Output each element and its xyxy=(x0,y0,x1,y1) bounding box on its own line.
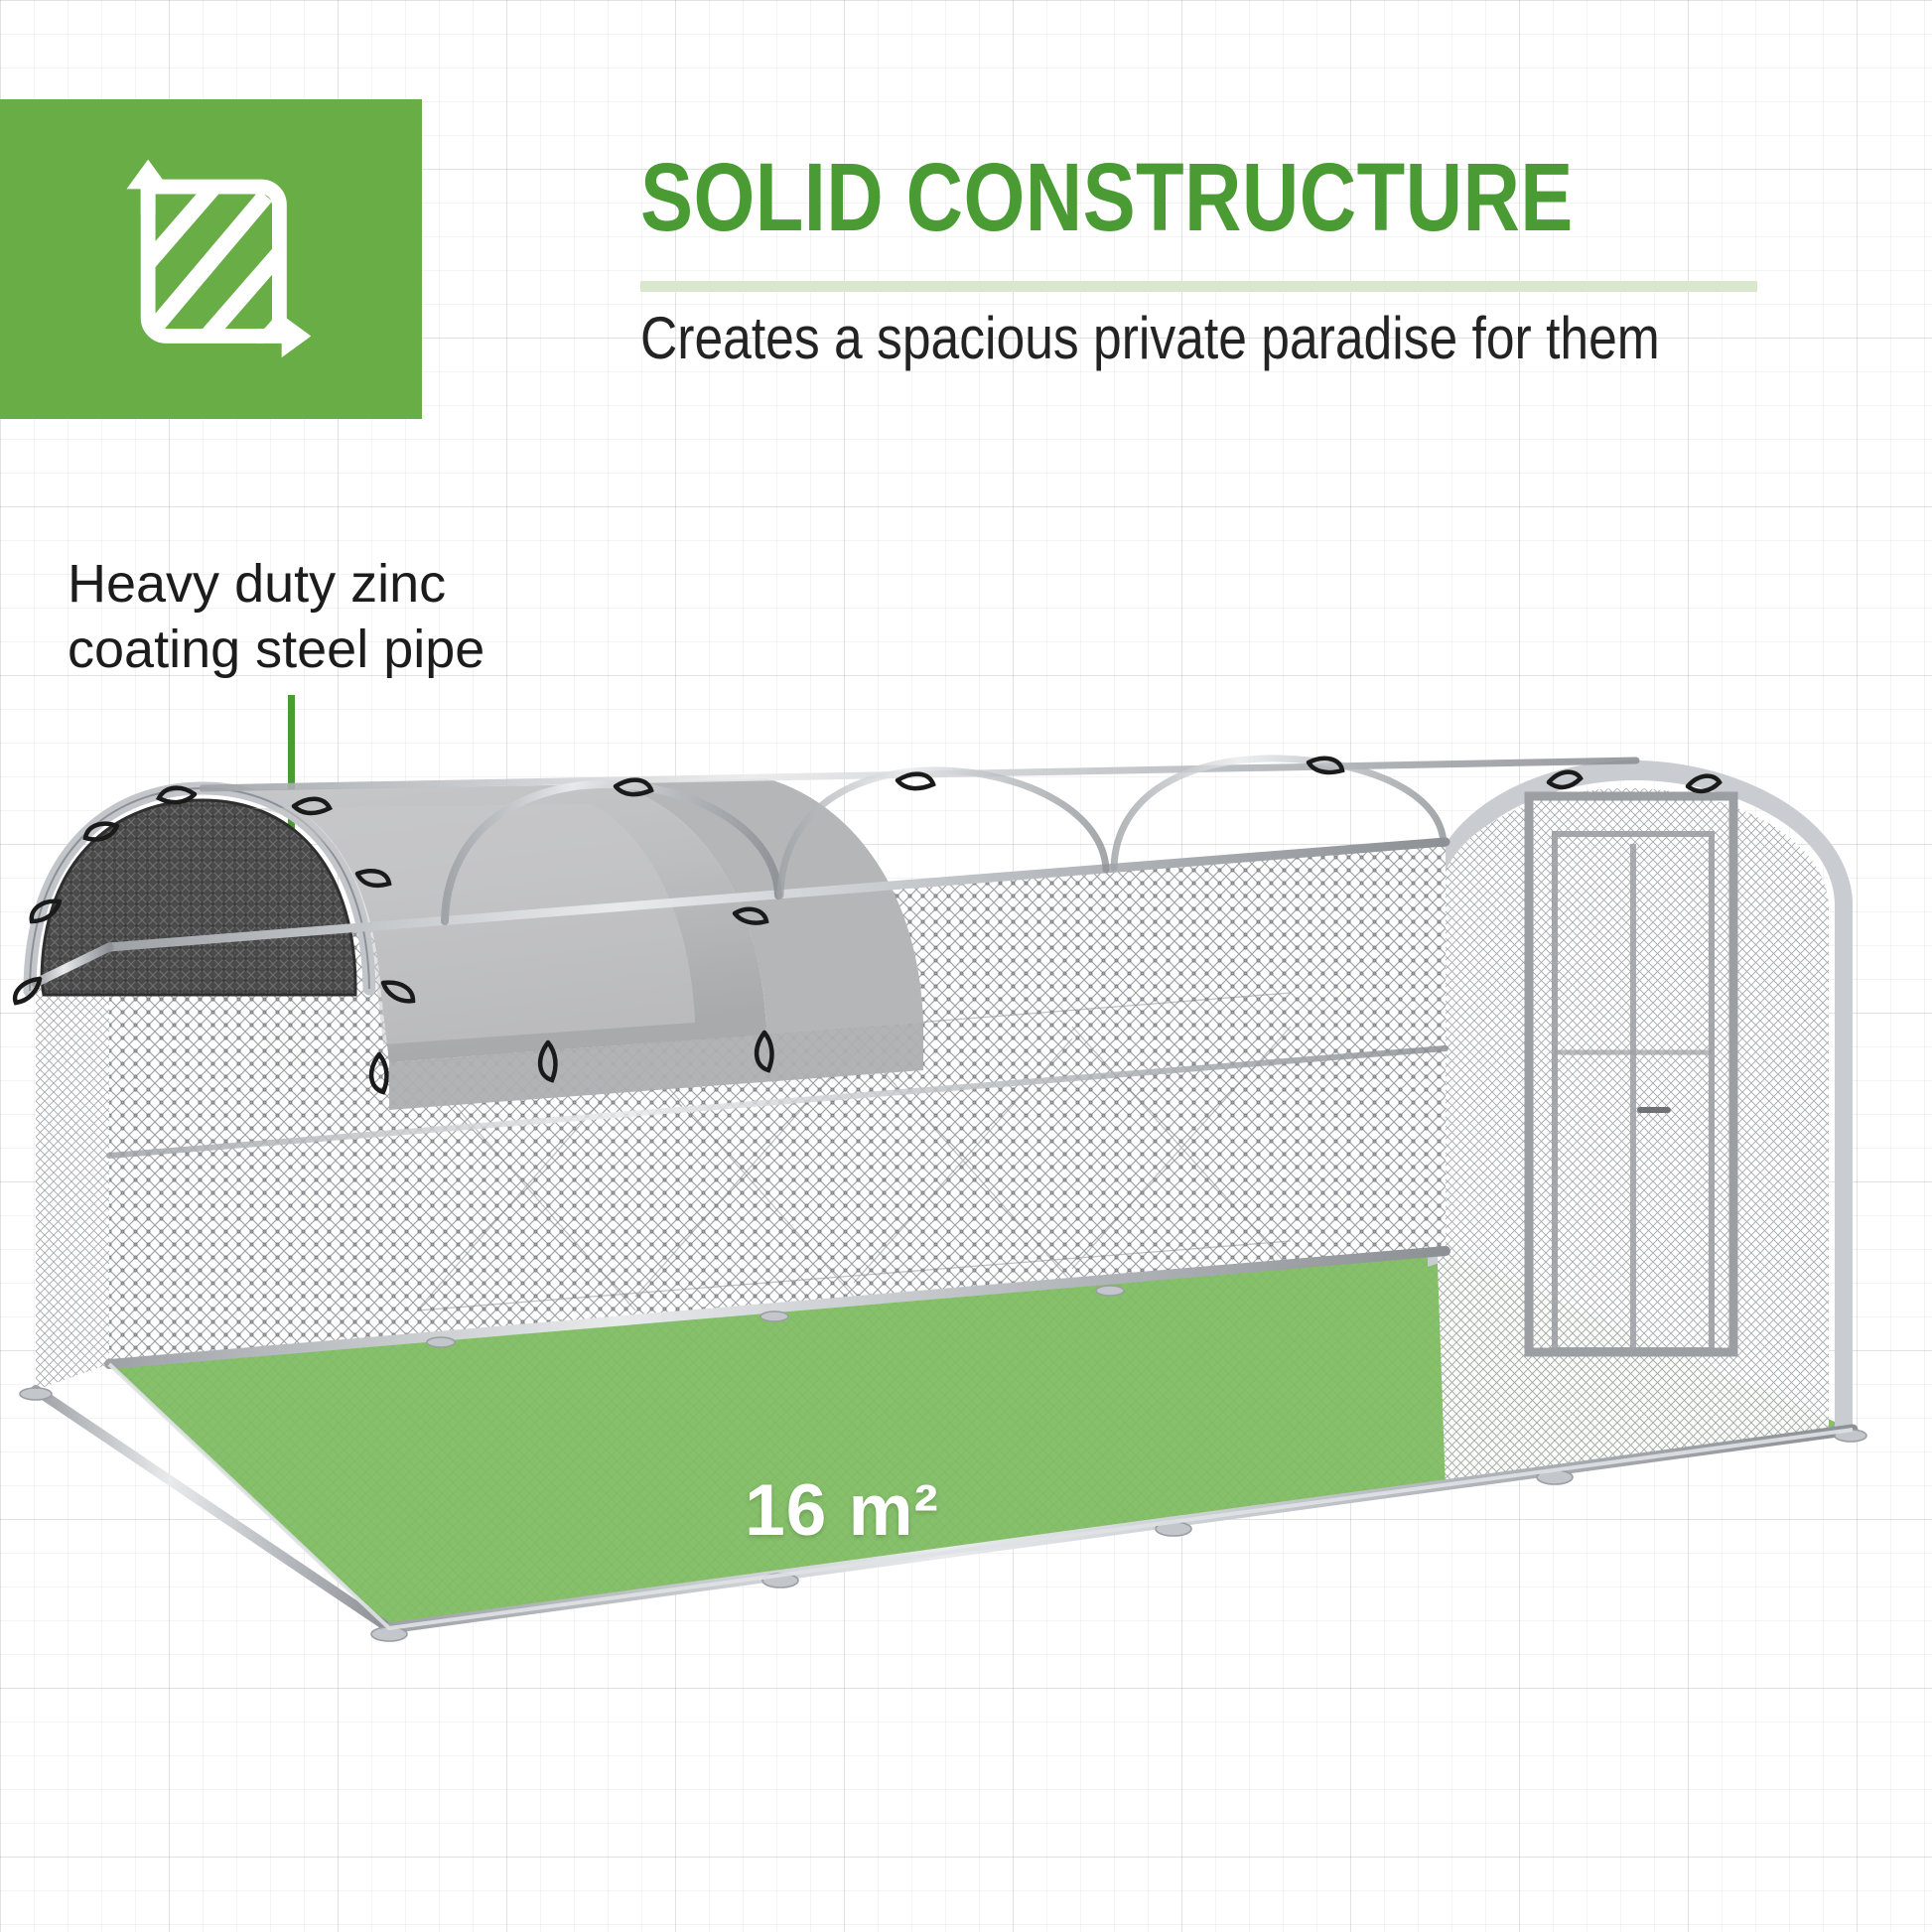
infographic-canvas: SOLID CONSTRUCTURE Creates a spacious pr… xyxy=(0,0,1932,1932)
callout-line-2: coating steel pipe xyxy=(68,618,703,683)
product-illustration xyxy=(0,735,1932,1727)
feature-badge xyxy=(0,99,422,419)
area-expand-icon xyxy=(98,146,325,372)
callout-line-1: Heavy duty zinc xyxy=(68,552,703,618)
page-title: SOLID CONSTRUCTURE xyxy=(640,149,1601,245)
page-subtitle: Creates a spacious private paradise for … xyxy=(640,306,1750,371)
callout-label: Heavy duty zinc coating steel pipe xyxy=(68,552,703,683)
title-divider xyxy=(640,281,1757,292)
